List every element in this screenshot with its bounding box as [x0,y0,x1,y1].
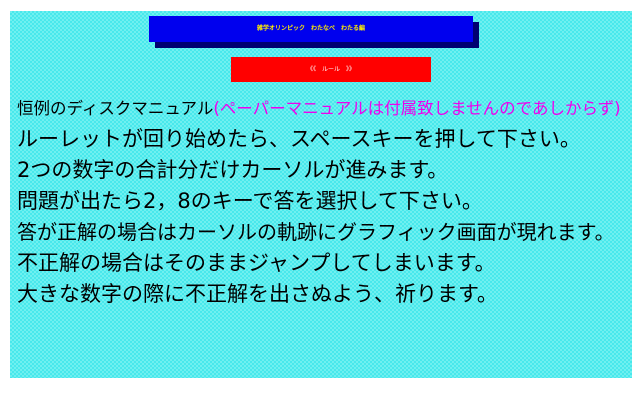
game-canvas: 雑学オリンピック わたなべ わたる編 《《 ルール 》》 恒例のディスクマニュア… [10,11,632,378]
rules-line: 不正解の場合はそのままジャンプしてしまいます。 [17,248,629,279]
rules-heading: 《《 ルール 》》 [231,57,431,82]
rules-line-segment: ルーレットが回り始めたら、スペースキーを押して下さい。 [17,127,581,151]
rules-line: 大きな数字の際に不正解を出さぬよう、祈ります。 [17,279,629,310]
game-title: 雑学オリンピック わたなべ わたる編 [149,16,473,42]
rules-line: 答が正解の場合はカーソルの軌跡にグラフィック画面が現れます。 [17,217,629,248]
rules-line: 2つの数字の合計分だけカーソルが進みます。 [17,155,629,186]
rules-line: 恒例のディスクマニュアル(ペーパーマニュアルは付属致しませんのであしからず) [17,93,629,124]
rules-line: 問題が出たら2，8のキーで答を選択して下さい。 [17,186,629,217]
rules-line-segment: 不正解の場合はそのままジャンプしてしまいます。 [17,251,496,275]
rules-line-segment: 2つの数字の合計分だけカーソルが進みます。 [17,158,448,182]
title-banner: 雑学オリンピック わたなべ わたる編 [149,16,479,48]
rules-line-segment: 大きな数字の際に不正解を出さぬよう、祈ります。 [17,282,498,306]
rules-line-segment: (ペーパーマニュアルは付属致しませんのであしからず) [213,99,620,118]
game-screen: 雑学オリンピック わたなべ わたる編 《《 ルール 》》 恒例のディスクマニュア… [0,0,640,400]
rules-text-block: 恒例のディスクマニュアル(ペーパーマニュアルは付属致しませんのであしからず)ルー… [17,93,629,310]
rules-line-segment: 恒例のディスクマニュアル [17,99,213,118]
rules-line: ルーレットが回り始めたら、スペースキーを押して下さい。 [17,124,629,155]
rules-line-segment: 答が正解の場合はカーソルの軌跡にグラフィック画面が現れます。 [17,220,615,244]
rules-line-segment: 問題が出たら2，8のキーで答を選択して下さい。 [17,189,483,213]
